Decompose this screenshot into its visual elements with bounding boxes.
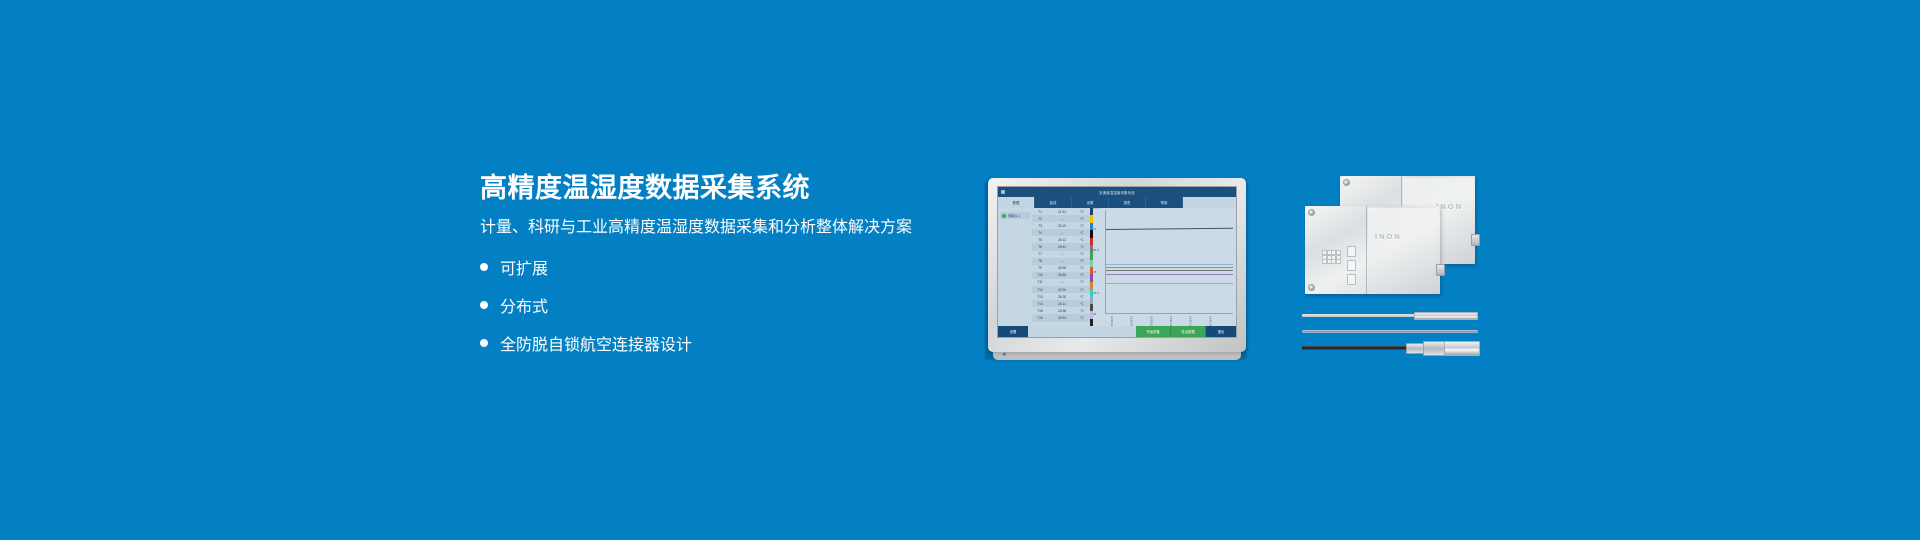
cell-value: 26.11 xyxy=(1048,302,1076,306)
app-footer-toolbar: 设置 开始采集 导出数据 退出 xyxy=(998,326,1236,337)
sidebar-item-device[interactable]: 采集仪-1 xyxy=(1000,212,1030,219)
cell-value: 26.86 xyxy=(1048,273,1076,277)
tab-report[interactable]: 报表 xyxy=(1109,197,1146,208)
chart-series-line xyxy=(1106,264,1233,265)
cell-value: 26.19 xyxy=(1048,224,1076,228)
app-window-title: 多通道温湿度采集系统 xyxy=(998,190,1236,195)
cell-value: --- xyxy=(1048,259,1076,263)
export-data-button[interactable]: 导出数据 xyxy=(1171,326,1206,337)
cell-value: 26.98 xyxy=(1048,266,1076,270)
enclosure-seam xyxy=(1366,206,1367,294)
chart-y-tick-label: 27.5 xyxy=(1093,206,1099,210)
feature-item-0: 可扩展 xyxy=(480,255,960,279)
page-subtitle: 计量、科研与工业高精度温湿度数据采集和分析整体解决方案 xyxy=(480,218,960,237)
bullet-icon xyxy=(480,339,488,347)
cell-unit: ℃ xyxy=(1076,280,1088,284)
screw-icon xyxy=(1343,179,1350,186)
bullet-icon xyxy=(480,263,488,271)
status-indicator-icon xyxy=(1002,214,1006,218)
trend-chart: 27.52726.52625.525 14:20:3114:20:4114:20… xyxy=(1093,208,1236,326)
table-row[interactable]: T626.61℃ xyxy=(1032,243,1090,250)
cell-unit: ℃ xyxy=(1076,309,1088,313)
screw-icon xyxy=(1308,284,1315,291)
table-row[interactable]: T1526.98℃ xyxy=(1032,307,1090,314)
table-row[interactable]: T326.19℃ xyxy=(1032,222,1090,229)
chart-series-line xyxy=(1106,283,1233,284)
bullet-icon xyxy=(480,301,488,309)
app-body: 采集仪-1 T121.91℃T2---℃T326.19℃T4---℃T526.1… xyxy=(998,208,1236,326)
connector-port xyxy=(1436,264,1445,276)
temperature-humidity-probes xyxy=(1302,308,1480,364)
table-row[interactable]: T1225.90℃ xyxy=(1032,286,1090,293)
feature-item-2: 全防脱自锁航空连接器设计 xyxy=(480,331,960,355)
table-row[interactable]: T1326.28℃ xyxy=(1032,293,1090,300)
table-row[interactable]: T1626.94℃ xyxy=(1032,314,1090,321)
brand-label: INON xyxy=(1436,202,1463,211)
cell-channel: T2 xyxy=(1032,217,1048,221)
cell-value: --- xyxy=(1048,280,1076,284)
start-acquisition-button[interactable]: 开始采集 xyxy=(1136,326,1171,337)
brand-label: INON xyxy=(1375,232,1402,241)
cell-value: 26.61 xyxy=(1048,245,1076,249)
cell-unit: ℃ xyxy=(1076,302,1088,306)
chart-y-tick-label: 25 xyxy=(1093,312,1096,316)
table-row[interactable]: T8---℃ xyxy=(1032,258,1090,265)
cell-channel: T14 xyxy=(1032,302,1048,306)
feature-label: 全防脱自锁航空连接器设计 xyxy=(500,331,692,355)
tab-curve[interactable]: 曲线 xyxy=(1035,197,1072,208)
chart-y-tick-label: 25.5 xyxy=(1093,291,1099,295)
data-acquisition-enclosures: INON INON xyxy=(1305,176,1475,296)
chart-series-line xyxy=(1106,274,1233,275)
terminal-block-icon xyxy=(1322,250,1339,262)
cell-value: --- xyxy=(1048,231,1076,235)
monitor-bezel: 多通道温湿度采集系统 数据 曲线 设置 报表 帮助 xyxy=(988,178,1246,352)
cell-value: 26.12 xyxy=(1048,238,1076,242)
feature-label: 可扩展 xyxy=(500,255,548,279)
chart-x-tick-label: 14:20:41 xyxy=(1130,316,1133,326)
sidebar-item-label: 采集仪-1 xyxy=(1008,213,1020,218)
cell-unit: ℃ xyxy=(1076,217,1088,221)
cell-unit: ℃ xyxy=(1076,224,1088,228)
tab-settings[interactable]: 设置 xyxy=(1072,197,1109,208)
cell-unit: ℃ xyxy=(1076,295,1088,299)
cell-channel: T3 xyxy=(1032,224,1048,228)
hero-copy-block: 高精度温湿度数据采集系统 计量、科研与工业高精度温湿度数据采集和分析整体解决方案… xyxy=(480,174,960,369)
monitor-brand-icon: ◂ xyxy=(1002,351,1009,358)
page-title: 高精度温湿度数据采集系统 xyxy=(480,174,960,204)
exit-button[interactable]: 退出 xyxy=(1206,326,1236,337)
cell-channel: T7 xyxy=(1032,252,1048,256)
cell-value: --- xyxy=(1048,252,1076,256)
cell-value: 26.94 xyxy=(1048,316,1076,320)
cell-channel: T10 xyxy=(1032,273,1048,277)
table-row[interactable]: T121.91℃ xyxy=(1032,208,1090,215)
app-titlebar: 多通道温湿度采集系统 xyxy=(998,187,1236,197)
cell-unit: ℃ xyxy=(1076,259,1088,263)
chart-y-tick-label: 27 xyxy=(1093,227,1096,231)
cell-channel: T15 xyxy=(1032,309,1048,313)
chart-plot-area xyxy=(1105,210,1233,314)
cell-value: 21.91 xyxy=(1048,210,1076,214)
feature-list: 可扩展 分布式 全防脱自锁航空连接器设计 xyxy=(480,255,960,355)
cell-channel: T1 xyxy=(1032,210,1048,214)
chart-y-tick-label: 26.5 xyxy=(1093,248,1099,252)
acquisition-app: 多通道温湿度采集系统 数据 曲线 设置 报表 帮助 xyxy=(998,187,1236,337)
tab-data[interactable]: 数据 xyxy=(998,197,1035,208)
cell-value: --- xyxy=(1048,217,1076,221)
cell-unit: ℃ xyxy=(1076,266,1088,270)
cell-unit: ℃ xyxy=(1076,210,1088,214)
table-row[interactable]: T4---℃ xyxy=(1032,229,1090,236)
cell-channel: T13 xyxy=(1032,295,1048,299)
table-row[interactable]: T7---℃ xyxy=(1032,251,1090,258)
enclosure-front: INON xyxy=(1305,206,1440,294)
cell-value: 26.98 xyxy=(1048,309,1076,313)
chart-y-tick-label: 26 xyxy=(1093,270,1096,274)
cell-unit: ℃ xyxy=(1076,245,1088,249)
table-row[interactable]: T11---℃ xyxy=(1032,279,1090,286)
cell-value: 25.90 xyxy=(1048,288,1076,292)
cell-channel: T16 xyxy=(1032,316,1048,320)
table-row[interactable]: T526.12℃ xyxy=(1032,236,1090,243)
settings-button[interactable]: 设置 xyxy=(998,326,1028,337)
chart-x-tick-label: 14:21:01 xyxy=(1169,316,1172,326)
cell-channel: T9 xyxy=(1032,266,1048,270)
chart-y-axis: 27.52726.52625.525 xyxy=(1093,208,1105,314)
enclosure-lid xyxy=(1368,208,1438,292)
cell-unit: ℃ xyxy=(1076,231,1088,235)
table-row[interactable]: T2---℃ xyxy=(1032,215,1090,222)
port-column-icon xyxy=(1347,246,1356,285)
panel-pc-monitor: 多通道温湿度采集系统 数据 曲线 设置 报表 帮助 xyxy=(988,178,1250,362)
hero-banner: 高精度温湿度数据采集系统 计量、科研与工业高精度温湿度数据采集和分析整体解决方案… xyxy=(0,0,1920,540)
feature-item-1: 分布式 xyxy=(480,293,960,317)
table-row[interactable]: T926.98℃ xyxy=(1032,265,1090,272)
chart-x-axis: 14:20:3114:20:4114:20:5114:21:0114:21:11… xyxy=(1105,314,1233,326)
screw-icon xyxy=(1308,209,1315,216)
tab-help[interactable]: 帮助 xyxy=(1146,197,1183,208)
channel-table: T121.91℃T2---℃T326.19℃T4---℃T526.12℃T626… xyxy=(1032,208,1090,326)
cell-unit: ℃ xyxy=(1076,252,1088,256)
connector-port xyxy=(1471,234,1480,246)
cell-unit: ℃ xyxy=(1076,238,1088,242)
chart-series-line xyxy=(1106,227,1233,229)
cell-channel: T12 xyxy=(1032,288,1048,292)
footer-spacer xyxy=(1028,326,1136,337)
cell-channel: T11 xyxy=(1032,280,1048,284)
chart-x-tick-label: 14:21:21 xyxy=(1208,316,1211,326)
cell-channel: T8 xyxy=(1032,259,1048,263)
cell-unit: ℃ xyxy=(1076,288,1088,292)
app-tab-bar: 数据 曲线 设置 报表 帮助 xyxy=(998,197,1236,208)
monitor-screen: 多通道温湿度采集系统 数据 曲线 设置 报表 帮助 xyxy=(997,186,1237,338)
cell-value: 26.28 xyxy=(1048,295,1076,299)
cell-channel: T4 xyxy=(1032,231,1048,235)
cell-unit: ℃ xyxy=(1076,316,1088,320)
app-sidebar: 采集仪-1 xyxy=(998,208,1032,326)
feature-label: 分布式 xyxy=(500,293,548,317)
cell-channel: T6 xyxy=(1032,245,1048,249)
table-row[interactable]: T1426.11℃ xyxy=(1032,300,1090,307)
chart-x-tick-label: 14:21:11 xyxy=(1189,316,1192,326)
chart-x-tick-label: 14:20:51 xyxy=(1149,316,1152,326)
chart-series-line xyxy=(1106,270,1233,271)
table-row[interactable]: T1026.86℃ xyxy=(1032,272,1090,279)
tab-bar-filler xyxy=(1183,197,1236,208)
cell-unit: ℃ xyxy=(1076,273,1088,277)
chart-series-line xyxy=(1106,267,1233,268)
cell-channel: T5 xyxy=(1032,238,1048,242)
chart-x-tick-label: 14:20:31 xyxy=(1110,316,1113,326)
